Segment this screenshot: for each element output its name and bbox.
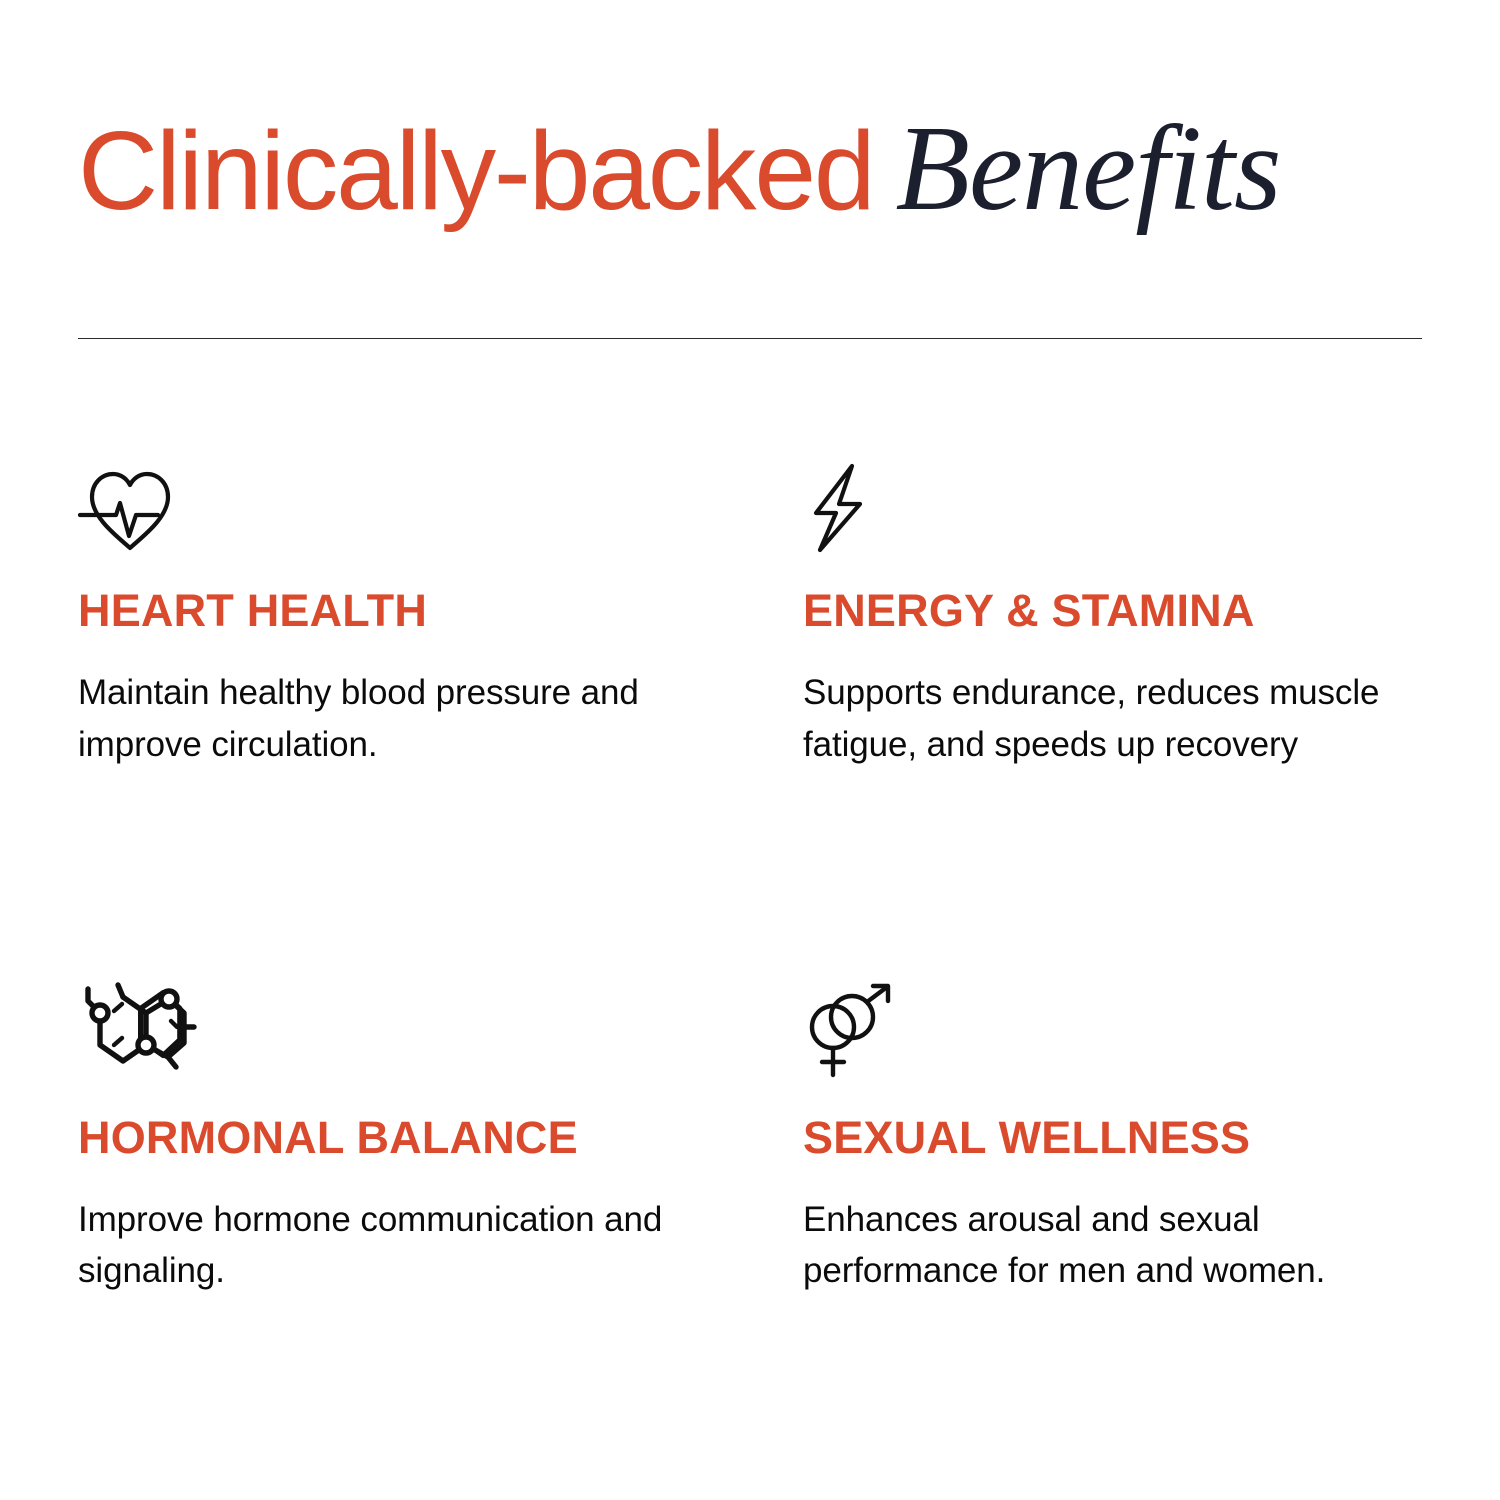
benefit-title: ENERGY & STAMINA: [803, 588, 1428, 633]
heart-pulse-icon: [78, 462, 803, 554]
benefit-title: HORMONAL BALANCE: [78, 1115, 803, 1160]
benefit-card-heart-health: HEART HEALTH Maintain healthy blood pres…: [78, 462, 803, 771]
molecule-icon: [78, 983, 803, 1075]
benefit-description: Supports endurance, reduces muscle fatig…: [803, 667, 1428, 771]
benefit-title: SEXUAL WELLNESS: [803, 1115, 1428, 1160]
benefit-card-hormonal-balance: HORMONAL BALANCE Improve hormone communi…: [78, 983, 803, 1298]
page-title-accent: Benefits: [895, 108, 1280, 230]
lightning-bolt-icon: [803, 462, 1428, 554]
male-female-symbols-icon: [803, 983, 1428, 1075]
header-divider: [78, 338, 1422, 339]
benefit-card-energy-stamina: ENERGY & STAMINA Supports endurance, red…: [803, 462, 1428, 771]
benefits-page: Clinically-backed Benefits HEART HEALTH …: [0, 0, 1500, 1500]
benefit-description: Improve hormone communication and signal…: [78, 1194, 698, 1298]
benefits-grid: HEART HEALTH Maintain healthy blood pres…: [78, 462, 1428, 1297]
benefit-title: HEART HEALTH: [78, 588, 803, 633]
benefit-card-sexual-wellness: SEXUAL WELLNESS Enhances arousal and sex…: [803, 983, 1428, 1298]
benefit-description: Enhances arousal and sexual performance …: [803, 1194, 1428, 1298]
benefit-description: Maintain healthy blood pressure and impr…: [78, 667, 698, 771]
page-title-primary: Clinically-backed: [78, 116, 873, 227]
page-title: Clinically-backed Benefits: [78, 108, 1423, 278]
